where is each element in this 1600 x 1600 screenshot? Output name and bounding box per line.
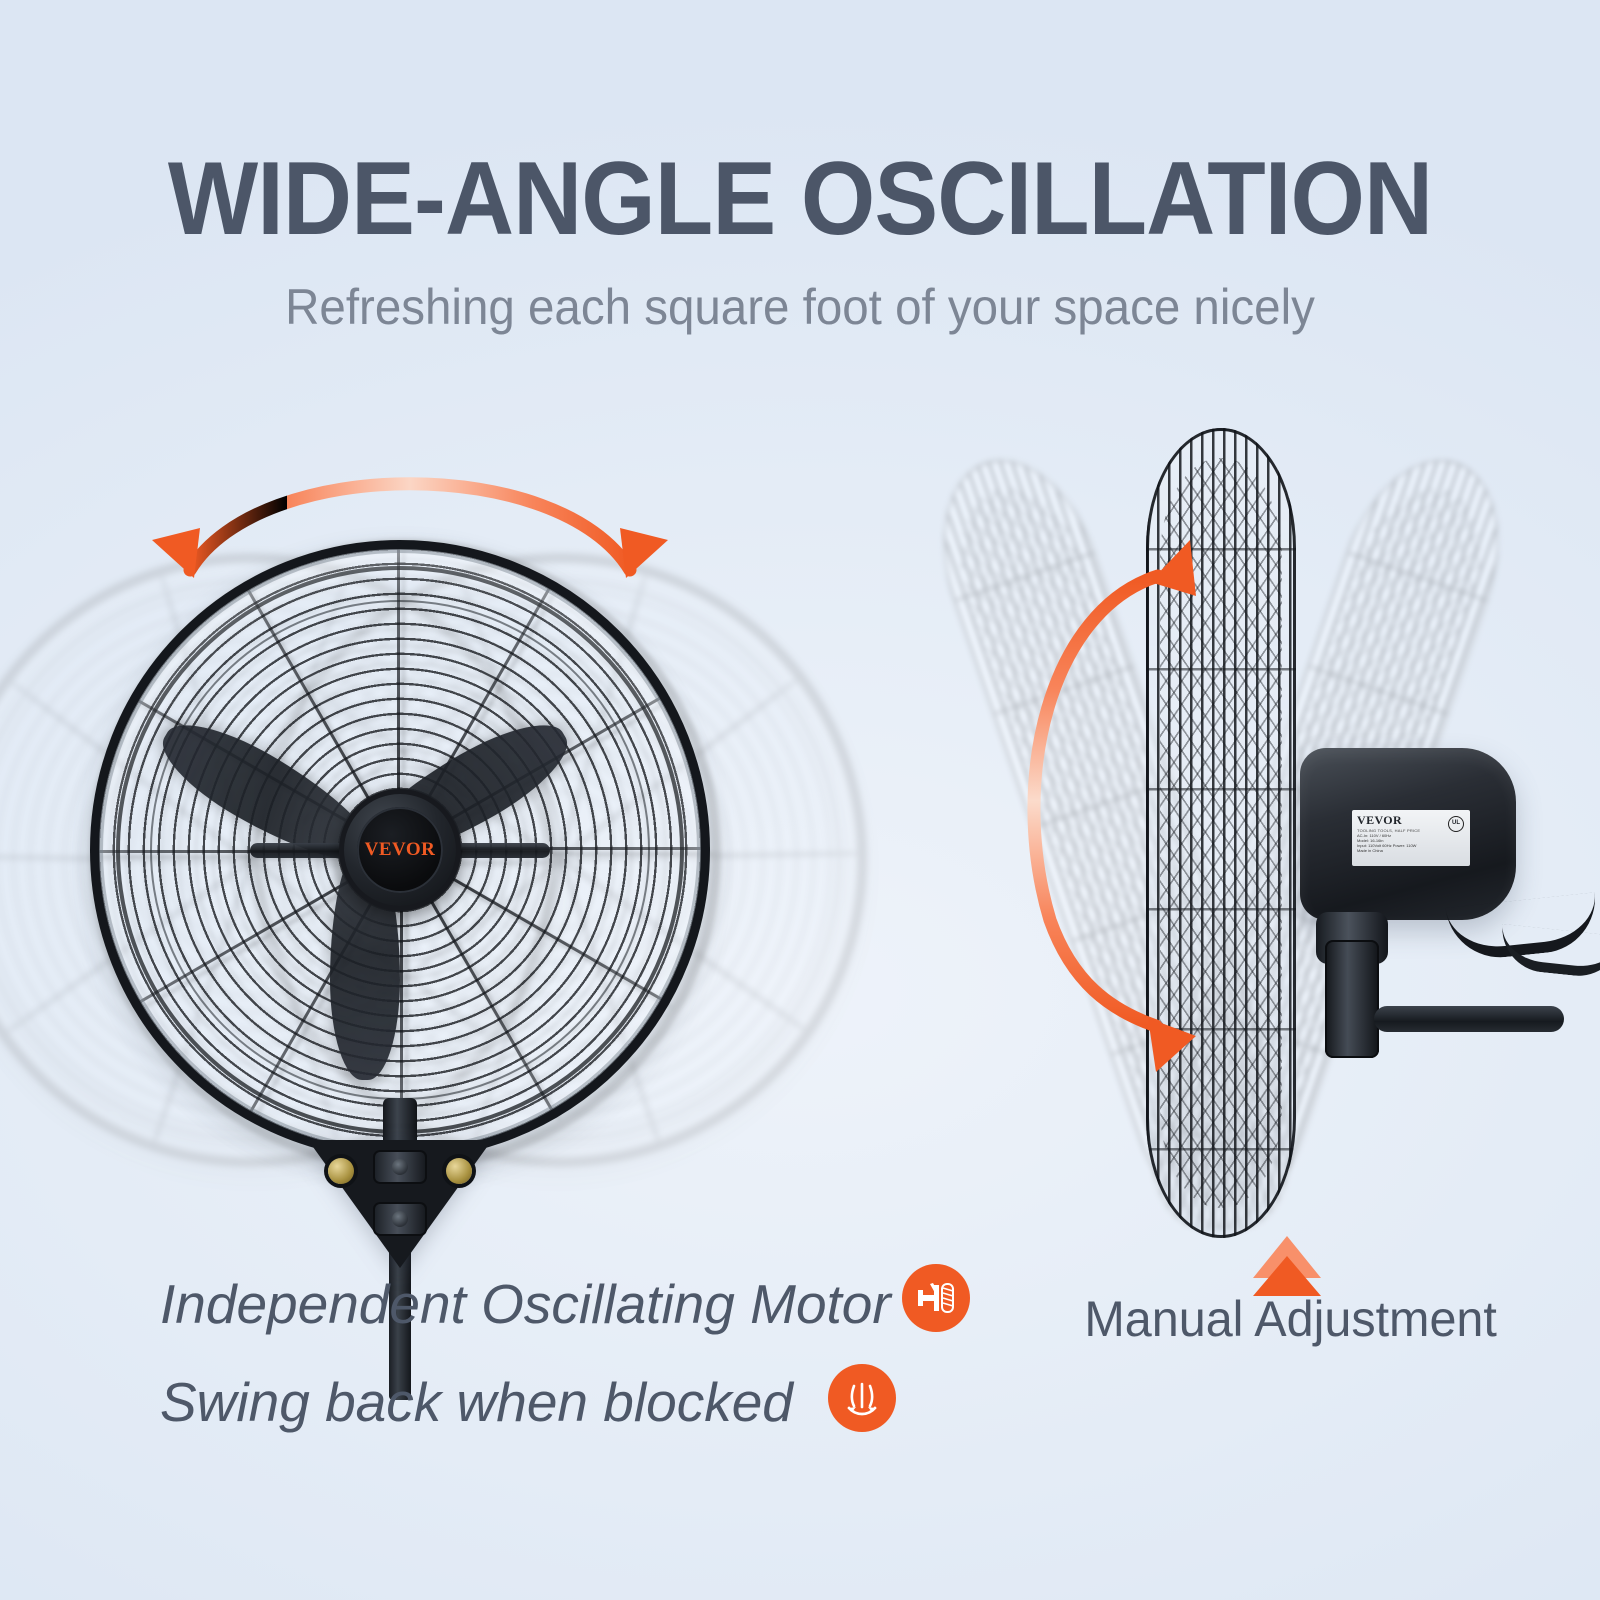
motor-housing: VEVOR TOOLING TOOLS, HALF PRICE AC-In: 1… bbox=[1300, 748, 1516, 920]
mount-neck bbox=[1325, 940, 1379, 1058]
page-subtitle: Refreshing each square foot of your spac… bbox=[40, 250, 1560, 336]
side-view-fan-panel: VEVOR TOOLING TOOLS, HALF PRICE AC-In: 1… bbox=[980, 400, 1600, 1320]
fan-hub: VEVOR bbox=[339, 789, 461, 911]
swing-back-icon bbox=[828, 1364, 896, 1432]
vertical-tilt-arrow bbox=[990, 530, 1240, 1050]
ul-cert-icon: UL bbox=[1448, 816, 1464, 832]
caption-oscillating-motor: Independent Oscillating Motor bbox=[160, 1272, 891, 1336]
caption-swing-back: Swing back when blocked bbox=[160, 1370, 793, 1434]
wall-arm bbox=[1374, 1006, 1564, 1032]
caption-oscillating-motor-label: Independent Oscillating Motor bbox=[160, 1273, 891, 1335]
motor-spec-label: VEVOR TOOLING TOOLS, HALF PRICE AC-In: 1… bbox=[1352, 810, 1470, 866]
product-feature-banner: WIDE-ANGLE OSCILLATION Refreshing each s… bbox=[0, 0, 1600, 1600]
vevor-logo: VEVOR bbox=[365, 839, 436, 861]
header: WIDE-ANGLE OSCILLATION Refreshing each s… bbox=[0, 0, 1600, 336]
power-cord-2 bbox=[1498, 924, 1600, 980]
caption-manual-adjustment: Manual Adjustment bbox=[1084, 1290, 1496, 1348]
horizontal-oscillation-arrow bbox=[130, 420, 690, 620]
caption-swing-back-label: Swing back when blocked bbox=[160, 1371, 793, 1433]
wall-mount-bracket bbox=[308, 1140, 492, 1268]
page-title: WIDE-ANGLE OSCILLATION bbox=[64, 0, 1536, 250]
oscillating-motor-icon bbox=[902, 1264, 970, 1332]
